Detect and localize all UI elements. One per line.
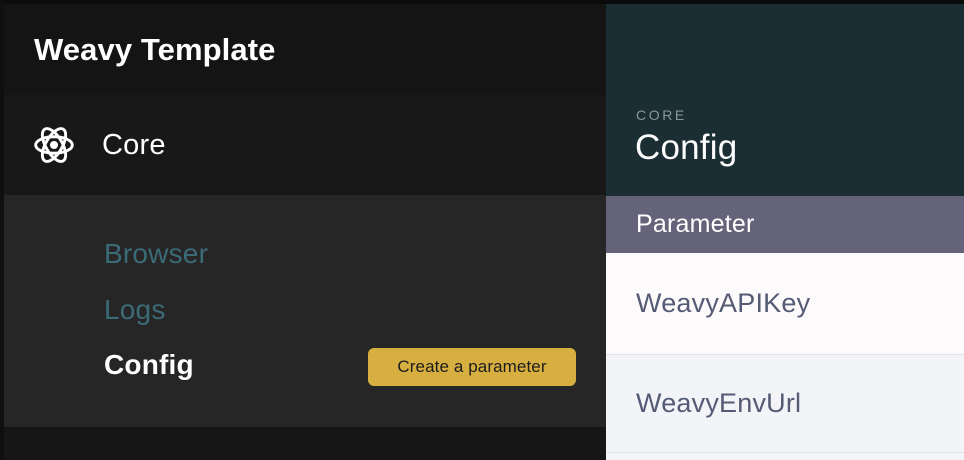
- sidebar-section-label: Core: [102, 129, 166, 162]
- table-tail: [606, 453, 964, 460]
- create-parameter-button[interactable]: Create a parameter: [368, 348, 576, 386]
- sidebar-item-config[interactable]: Config: [104, 349, 194, 381]
- breadcrumb: CORE: [636, 107, 687, 123]
- panel-header: CORE Config: [606, 4, 964, 196]
- sidebar-section-core[interactable]: Core: [0, 95, 606, 195]
- table-row[interactable]: WeavyEnvUrl: [606, 355, 964, 452]
- sidebar-item-logs[interactable]: Logs: [104, 294, 166, 326]
- table-row[interactable]: WeavyAPIKey: [606, 253, 964, 354]
- config-panel: CORE Config Parameter WeavyAPIKey WeavyE…: [606, 0, 964, 460]
- window-top-edge: [0, 0, 964, 4]
- atom-icon: [32, 123, 76, 167]
- sidebar-submenu: Browser Logs Config: [0, 195, 606, 427]
- sidebar-footer: [0, 427, 606, 460]
- sidebar-item-browser[interactable]: Browser: [104, 238, 208, 270]
- app-title: Weavy Template: [34, 32, 275, 68]
- sidebar: Weavy Template Core Browser Logs Config …: [0, 0, 606, 460]
- cell-parameter-name: WeavyEnvUrl: [636, 388, 801, 419]
- window-left-edge: [0, 0, 4, 460]
- cell-parameter-name: WeavyAPIKey: [636, 288, 810, 319]
- column-header-parameter: Parameter: [636, 210, 755, 239]
- table-header-row: Parameter: [606, 196, 964, 253]
- app-window: Weavy Template Core Browser Logs Config …: [0, 0, 964, 460]
- sidebar-header: Weavy Template: [0, 4, 606, 95]
- page-title: Config: [635, 128, 737, 168]
